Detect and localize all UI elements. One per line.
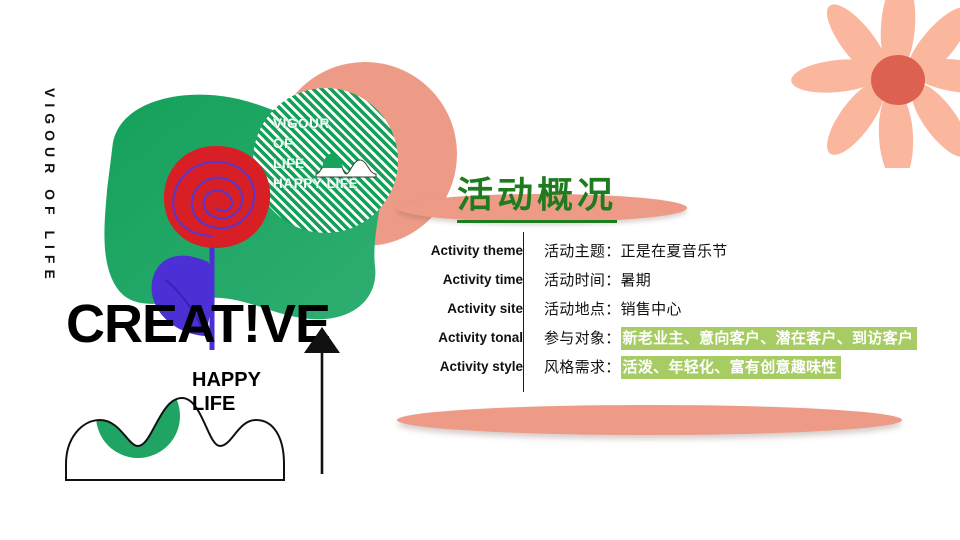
title-area: 活动概况 xyxy=(405,170,945,230)
creative-wordmark: CREAT!VE xyxy=(66,297,330,351)
row-value: 活动地点：销售中心 xyxy=(532,298,682,319)
row-value: 参与对象：新老业主、意向客户、潜在客户、到访客户 xyxy=(532,327,917,348)
table-row: Activity theme 活动主题：正是在夏音乐节 xyxy=(418,236,938,265)
creative-part-a: CREAT xyxy=(66,294,243,354)
row-value-text: 活动主题：正是在夏音乐节 xyxy=(544,242,728,260)
up-arrow-icon xyxy=(300,325,344,480)
row-value-text: 参与对象： xyxy=(544,329,621,347)
row-label: Activity theme xyxy=(418,243,532,258)
table-row: Activity time 活动时间：暑期 xyxy=(418,265,938,294)
creative-exclamation: ! xyxy=(243,294,260,354)
happy-line-2: LIFE xyxy=(192,392,261,416)
row-label: Activity time xyxy=(418,272,532,287)
row-value: 风格需求：活泼、年轻化、富有创意趣味性 xyxy=(532,356,841,377)
row-value-text: 活动地点：销售中心 xyxy=(544,300,682,318)
page-title: 活动概况 xyxy=(457,166,617,223)
badge-line-1: VIGOUR xyxy=(273,114,358,134)
mountain-icon xyxy=(315,144,377,183)
happy-life-label: HAPPY LIFE xyxy=(192,368,261,416)
row-label: Activity tonal xyxy=(418,330,532,345)
vertical-brand-text: VIGOUR OF LIFE xyxy=(42,88,58,288)
table-row: Activity style 风格需求：活泼、年轻化、富有创意趣味性 xyxy=(418,352,938,381)
activity-info-table: Activity theme 活动主题：正是在夏音乐节 Activity tim… xyxy=(418,236,938,381)
table-row: Activity tonal 参与对象：新老业主、意向客户、潜在客户、到访客户 xyxy=(418,323,938,352)
row-label: Activity style xyxy=(418,359,532,374)
row-value-highlight: 新老业主、意向客户、潜在客户、到访客户 xyxy=(621,327,918,350)
row-value-text: 活动时间：暑期 xyxy=(544,271,651,289)
daisy-flower-icon xyxy=(770,0,960,168)
row-value: 活动主题：正是在夏音乐节 xyxy=(532,240,728,261)
slide-canvas: VIGOUR OF LIFE VIGOUR OF LIFE HAPPY LIFE xyxy=(0,0,960,540)
bottom-ellipse-shape xyxy=(397,405,902,435)
happy-line-1: HAPPY xyxy=(192,368,261,392)
left-artwork: VIGOUR OF LIFE VIGOUR OF LIFE HAPPY LIFE xyxy=(0,0,420,540)
row-value-highlight: 活泼、年轻化、富有创意趣味性 xyxy=(621,356,841,379)
table-row: Activity site 活动地点：销售中心 xyxy=(418,294,938,323)
row-value-text: 风格需求： xyxy=(544,358,621,376)
row-value: 活动时间：暑期 xyxy=(532,269,651,290)
row-label: Activity site xyxy=(418,301,532,316)
